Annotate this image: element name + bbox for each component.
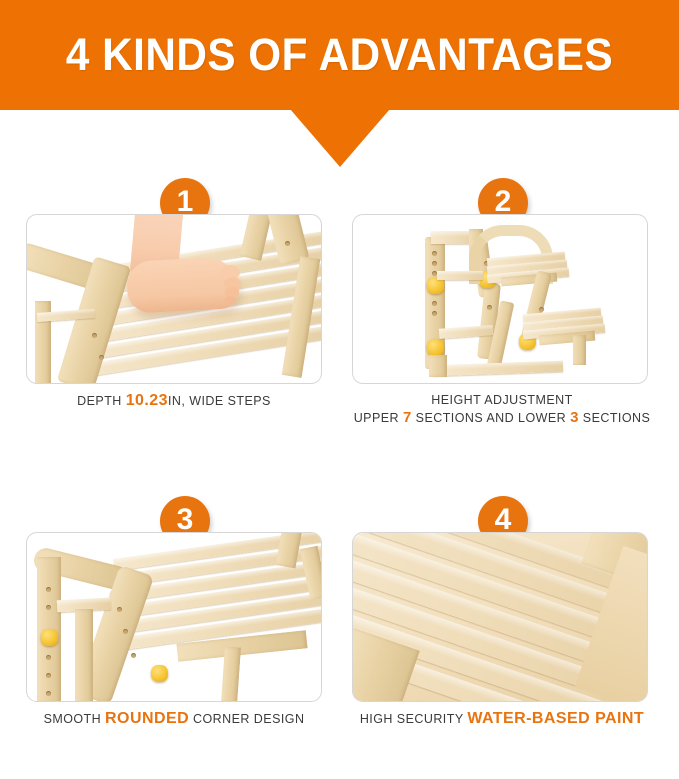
caption-text: CORNER DESIGN [189,712,304,726]
caption-highlight: 3 [570,409,579,426]
caption-text: HIGH SECURITY [360,712,467,726]
advantage-photo-3 [26,532,322,702]
advantage-photo-1 [26,214,322,384]
caption-text: SECTIONS AND LOWER [412,411,570,425]
advantage-caption-4: HIGH SECURITY WATER-BASED PAINT [352,710,652,728]
advantage-photo-4 [352,532,648,702]
page-title: 4 KINDS OF ADVANTAGES [20,0,658,110]
advantage-caption-2: HEIGHT ADJUSTMENT UPPER 7 SECTIONS AND L… [352,392,652,427]
advantage-caption-1: DEPTH 10.23IN, WIDE STEPS [26,392,322,410]
advantage-caption-3: SMOOTH ROUNDED CORNER DESIGN [26,710,322,728]
header-banner: 4 KINDS OF ADVANTAGES [0,0,679,110]
caption-line: HIGH SECURITY WATER-BASED PAINT [352,710,652,728]
advantage-photo-2 [352,214,648,384]
rounded-corner-illustration [27,533,321,701]
caption-text: IN, WIDE STEPS [168,394,271,408]
caption-line: DEPTH 10.23IN, WIDE STEPS [26,392,322,410]
advantages-grid: 1 [0,110,679,779]
full-stool-illustration [353,215,647,383]
caption-text: SMOOTH [44,712,105,726]
caption-text: UPPER [354,411,403,425]
caption-line: UPPER 7 SECTIONS AND LOWER 3 SECTIONS [352,409,652,427]
caption-text: DEPTH [77,394,126,408]
caption-highlight: ROUNDED [105,710,189,727]
caption-highlight: 10.23 [126,392,168,409]
caption-highlight: 7 [403,409,412,426]
caption-highlight: WATER-BASED PAINT [467,710,644,727]
caption-text: SECTIONS [579,411,650,425]
wood-surface-illustration [353,533,647,701]
caption-text: HEIGHT ADJUSTMENT [431,393,572,407]
caption-line: SMOOTH ROUNDED CORNER DESIGN [26,710,322,728]
caption-line: HEIGHT ADJUSTMENT [352,392,652,409]
stool-foot-illustration [27,215,321,383]
